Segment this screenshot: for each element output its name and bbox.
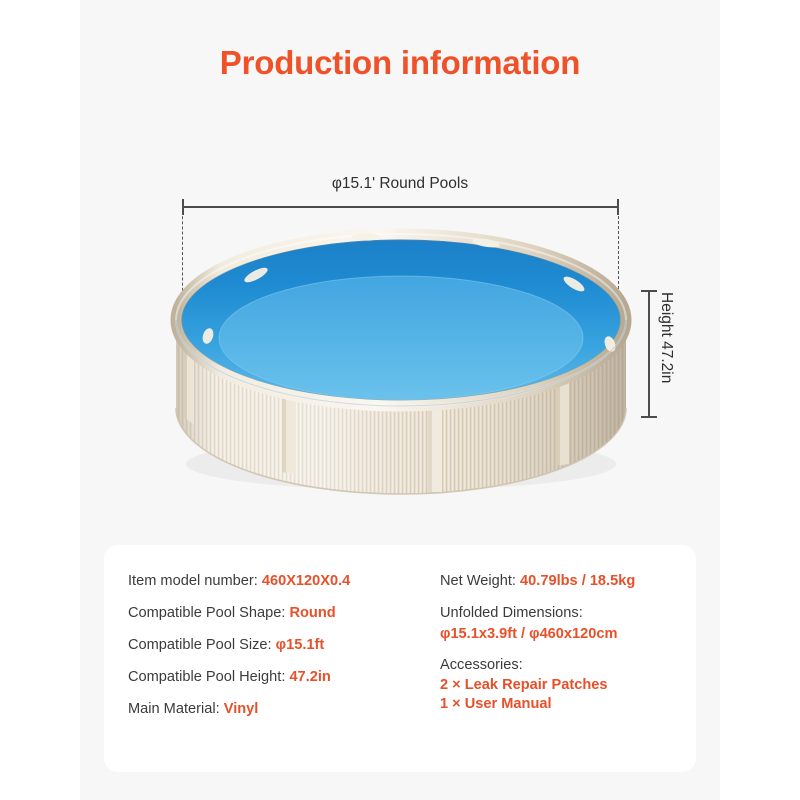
specification-card: Item model number: 460X120X0.4 Compatibl… xyxy=(104,545,696,772)
width-dimension-line xyxy=(182,206,619,208)
spec-value: 460X120X0.4 xyxy=(262,573,350,589)
height-dimension-label: Height 47.2in xyxy=(657,292,675,383)
width-dimension-label: φ15.1' Round Pools xyxy=(0,175,800,193)
spec-value: 47.2in xyxy=(289,669,330,685)
spec-accessories: Accessories: 2 × Leak Repair Patches 1 ×… xyxy=(440,657,696,714)
page-title: Production information xyxy=(0,44,800,82)
spec-accessory-2: 1 × User Manual xyxy=(440,696,696,714)
spec-label: Item model number: xyxy=(128,573,258,589)
pool-illustration xyxy=(170,212,632,512)
height-dimension-line xyxy=(648,290,650,418)
spec-pool-size: Compatible Pool Size: φ15.1ft xyxy=(128,637,434,653)
spec-pool-shape: Compatible Pool Shape: Round xyxy=(128,605,434,621)
spec-pool-height: Compatible Pool Height: 47.2in xyxy=(128,669,434,685)
spec-accessory-1: 2 × Leak Repair Patches xyxy=(440,677,696,695)
spec-value: φ15.1x3.9ft / φ460x120cm xyxy=(440,626,696,644)
spec-label: Compatible Pool Size: xyxy=(128,637,272,653)
spec-item-model-number: Item model number: 460X120X0.4 xyxy=(128,573,434,589)
spec-value: Round xyxy=(289,605,335,621)
spec-label: Main Material: xyxy=(128,701,220,717)
spec-value: 40.79lbs / 18.5kg xyxy=(520,573,635,589)
spec-value: Vinyl xyxy=(224,701,259,717)
spec-unfolded-dimensions: Unfolded Dimensions: φ15.1x3.9ft / φ460x… xyxy=(440,605,696,644)
spec-label: Compatible Pool Shape: xyxy=(128,605,285,621)
spec-label: Net Weight: xyxy=(440,573,516,589)
spec-column-left: Item model number: 460X120X0.4 Compatibl… xyxy=(104,573,434,772)
spec-net-weight: Net Weight: 40.79lbs / 18.5kg xyxy=(440,573,696,589)
spec-label: Compatible Pool Height: xyxy=(128,669,285,685)
product-diagram: φ15.1' Round Pools Height 47.2in xyxy=(0,150,800,530)
spec-label: Accessories: xyxy=(440,657,523,673)
spec-column-right: Net Weight: 40.79lbs / 18.5kg Unfolded D… xyxy=(434,573,696,772)
pool-floor xyxy=(219,276,583,400)
spec-main-material: Main Material: Vinyl xyxy=(128,701,434,717)
spec-value: φ15.1ft xyxy=(276,637,325,653)
page-root: Production information φ15.1' Round Pool… xyxy=(0,0,800,800)
spec-label: Unfolded Dimensions: xyxy=(440,605,583,621)
pool-svg xyxy=(170,212,632,512)
